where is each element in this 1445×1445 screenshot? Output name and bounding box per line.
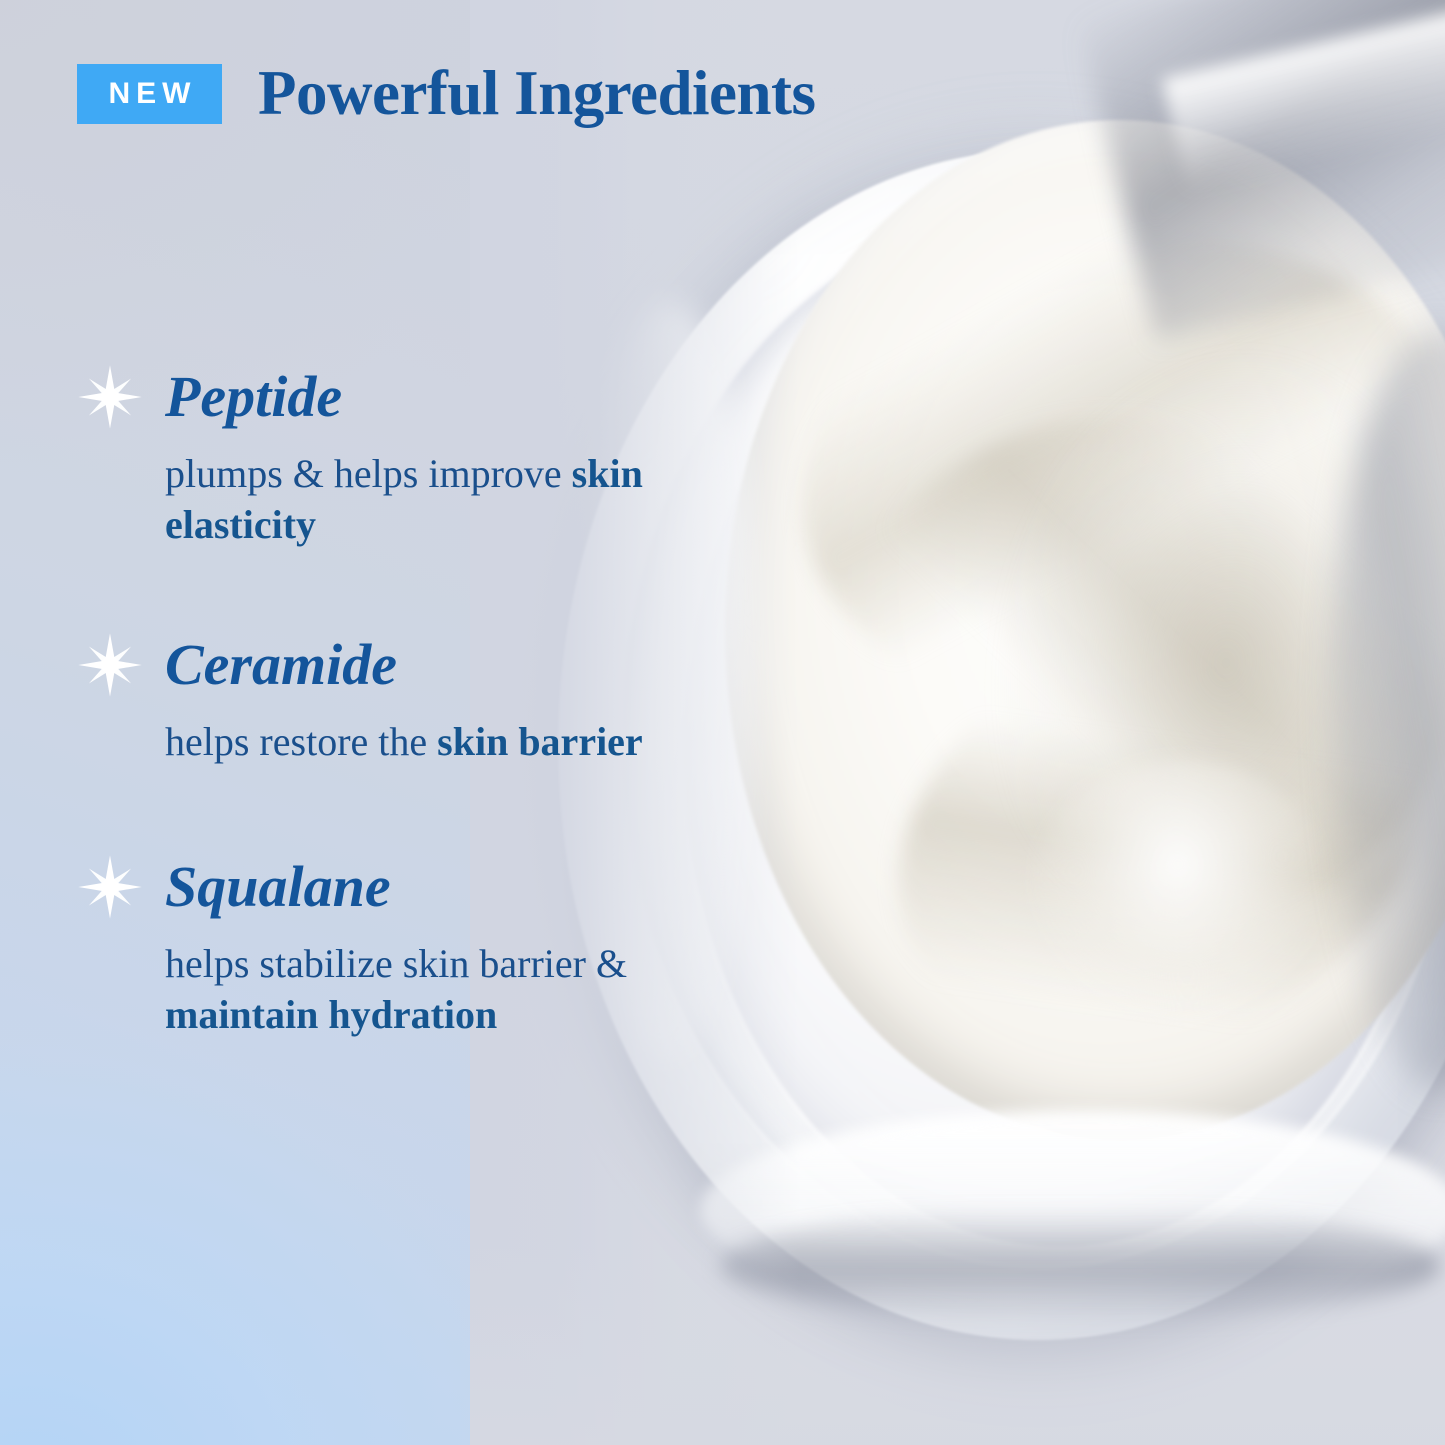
sparkle-icon: [77, 854, 143, 920]
header: NEW Powerful Ingredients: [77, 62, 816, 125]
ingredient-name: Peptide: [165, 368, 342, 426]
ingredient-description-plain: helps restore the: [165, 719, 437, 764]
sparkle-icon: [77, 364, 143, 430]
new-badge: NEW: [77, 64, 222, 124]
ingredient-name: Ceramide: [165, 636, 397, 694]
ingredient-heading-row: Ceramide: [77, 626, 717, 704]
ingredient-description-bold: maintain hydration: [165, 992, 497, 1037]
promo-graphic: NEW Powerful Ingredients Peptide plumps …: [0, 0, 1445, 1445]
sparkle-icon: [77, 632, 143, 698]
ingredient-description: helps stabilize skin barrier & maintain …: [165, 938, 705, 1040]
ingredient-description: helps restore the skin barrier: [165, 716, 705, 767]
ingredient-name: Squalane: [165, 858, 391, 916]
ingredient-heading-row: Peptide: [77, 358, 717, 436]
ingredient-item: Peptide plumps & helps improve skin elas…: [77, 358, 717, 550]
page-title: Powerful Ingredients: [258, 62, 816, 125]
photo-bottom-feather: [470, 1245, 1445, 1445]
ingredient-description-plain: helps stabilize skin barrier &: [165, 941, 627, 986]
ingredient-description: plumps & helps improve skin elasticity: [165, 448, 705, 550]
ingredient-description-bold: skin barrier: [437, 719, 643, 764]
ingredient-item: Ceramide helps restore the skin barrier: [77, 626, 717, 767]
ingredient-list: Peptide plumps & helps improve skin elas…: [77, 358, 717, 1040]
ingredient-heading-row: Squalane: [77, 848, 717, 926]
ingredient-description-plain: plumps & helps improve: [165, 451, 572, 496]
ingredient-item: Squalane helps stabilize skin barrier & …: [77, 848, 717, 1040]
